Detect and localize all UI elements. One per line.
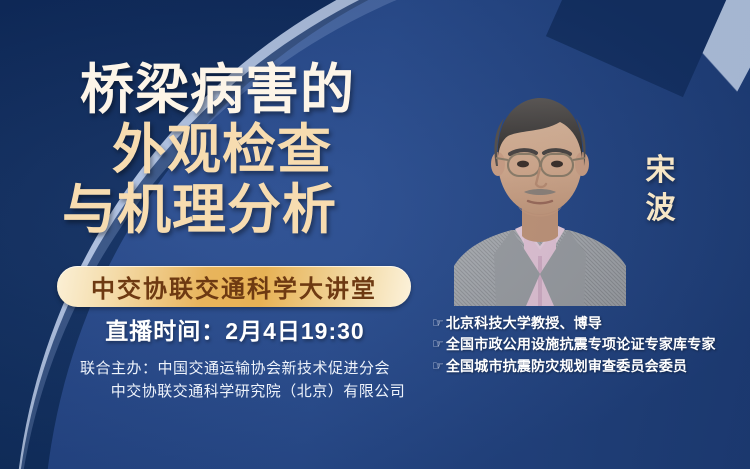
title-line-2: 外观检查: [112, 122, 430, 178]
credential-item: ☞ 全国市政公用设施抗震专项论证专家库专家: [432, 334, 748, 355]
webinar-poster: 桥梁病害的 外观检查 与机理分析 中交协联交通科学大讲堂 直播时间：2月4日19…: [0, 0, 750, 469]
credential-item: ☞ 全国城市抗震防灾规划审查委员会委员: [432, 356, 748, 377]
pointing-hand-icon: ☞: [432, 334, 444, 354]
pointing-hand-icon: ☞: [432, 356, 444, 376]
poster-title: 桥梁病害的 外观检查 与机理分析: [0, 62, 430, 238]
title-line-3: 与机理分析: [62, 182, 430, 238]
credential-text: 全国城市抗震防灾规划审查委员会委员: [446, 356, 687, 377]
speaker-name-char-1: 宋: [638, 152, 684, 190]
live-time: 直播时间：2月4日19:30: [0, 312, 470, 346]
speaker-name-char-2: 波: [638, 190, 684, 228]
credential-item: ☞ 北京科技大学教授、博导: [432, 313, 748, 334]
series-badge: 中交协联交通科学大讲堂: [57, 266, 411, 307]
credential-text: 全国市政公用设施抗震专项论证专家库专家: [446, 334, 716, 355]
title-line-1: 桥梁病害的: [80, 62, 430, 118]
organizer-line-2: 中交协联交通科学研究院（北京）有限公司: [0, 380, 470, 403]
series-badge-label: 中交协联交通科学大讲堂: [91, 269, 377, 304]
speaker-name: 宋 波: [638, 152, 684, 229]
speaker-photo-image: [452, 70, 628, 306]
organizers: 联合主办：中国交通运输协会新技术促进分会 中交协联交通科学研究院（北京）有限公司: [0, 357, 470, 404]
credential-text: 北京科技大学教授、博导: [446, 313, 602, 334]
pointing-hand-icon: ☞: [432, 313, 444, 333]
speaker-photo: [452, 70, 628, 306]
speaker-credentials: ☞ 北京科技大学教授、博导 ☞ 全国市政公用设施抗震专项论证专家库专家 ☞ 全国…: [432, 313, 748, 377]
organizer-line-1: 联合主办：中国交通运输协会新技术促进分会: [0, 357, 470, 380]
